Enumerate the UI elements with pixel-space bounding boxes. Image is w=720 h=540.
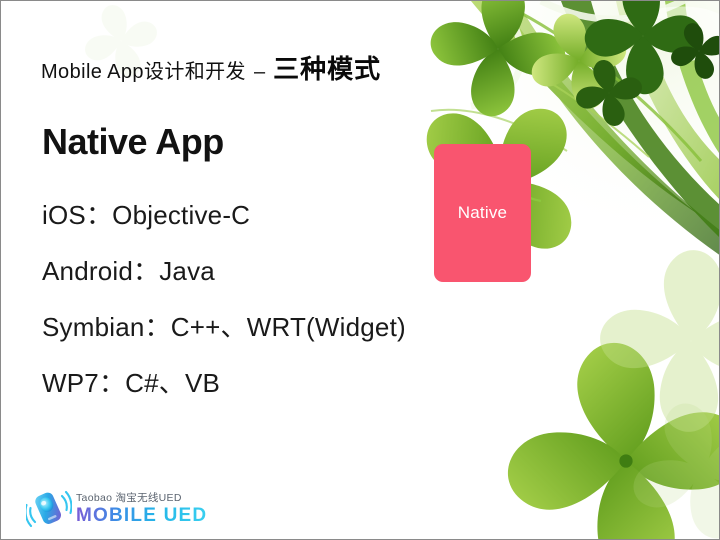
clover-dark-top xyxy=(581,1,705,98)
clover-medium-left xyxy=(424,1,572,123)
list-item: Android：Java xyxy=(42,243,406,299)
clover-tiny-mid xyxy=(575,59,643,127)
list-item: iOS：Objective-C xyxy=(42,187,406,243)
clover-tiny-right xyxy=(671,23,720,79)
native-card: Native xyxy=(434,144,531,282)
clover-large xyxy=(502,337,720,540)
title-separator: – xyxy=(254,61,265,84)
platform-list: iOS：Objective-C Android：Java Symbian：C++… xyxy=(42,187,406,411)
taobao-mobile-ued-logo: Taobao 淘宝无线UED MOBILE UED xyxy=(26,486,226,532)
title-accent-text: 三种模式 xyxy=(273,49,381,86)
content-heading: Native App xyxy=(42,121,224,163)
clover-small-mid xyxy=(532,14,626,108)
logo-tagline: Taobao 淘宝无线UED xyxy=(76,492,207,505)
list-item: Symbian：C++、WRT(Widget) xyxy=(42,299,406,355)
logo-wordmark: MOBILE UED xyxy=(76,505,207,526)
list-item: WP7：C#、VB xyxy=(42,355,406,411)
native-card-label: Native xyxy=(458,203,507,223)
title-main-text: Mobile App设计和开发 xyxy=(41,55,246,84)
mobile-device-signal-icon xyxy=(26,487,72,531)
ribbon-swirls xyxy=(471,1,720,106)
slide-title: Mobile App设计和开发 – 三种模式 xyxy=(41,49,381,86)
clover-faded-right xyxy=(592,242,720,439)
logo-text-block: Taobao 淘宝无线UED MOBILE UED xyxy=(76,492,207,526)
mobile-device-signal-icon-svg xyxy=(26,487,72,531)
clover-faded-bottom xyxy=(634,404,720,539)
slide-canvas: Mobile App设计和开发 – 三种模式 Native App iOS：Ob… xyxy=(0,0,720,540)
